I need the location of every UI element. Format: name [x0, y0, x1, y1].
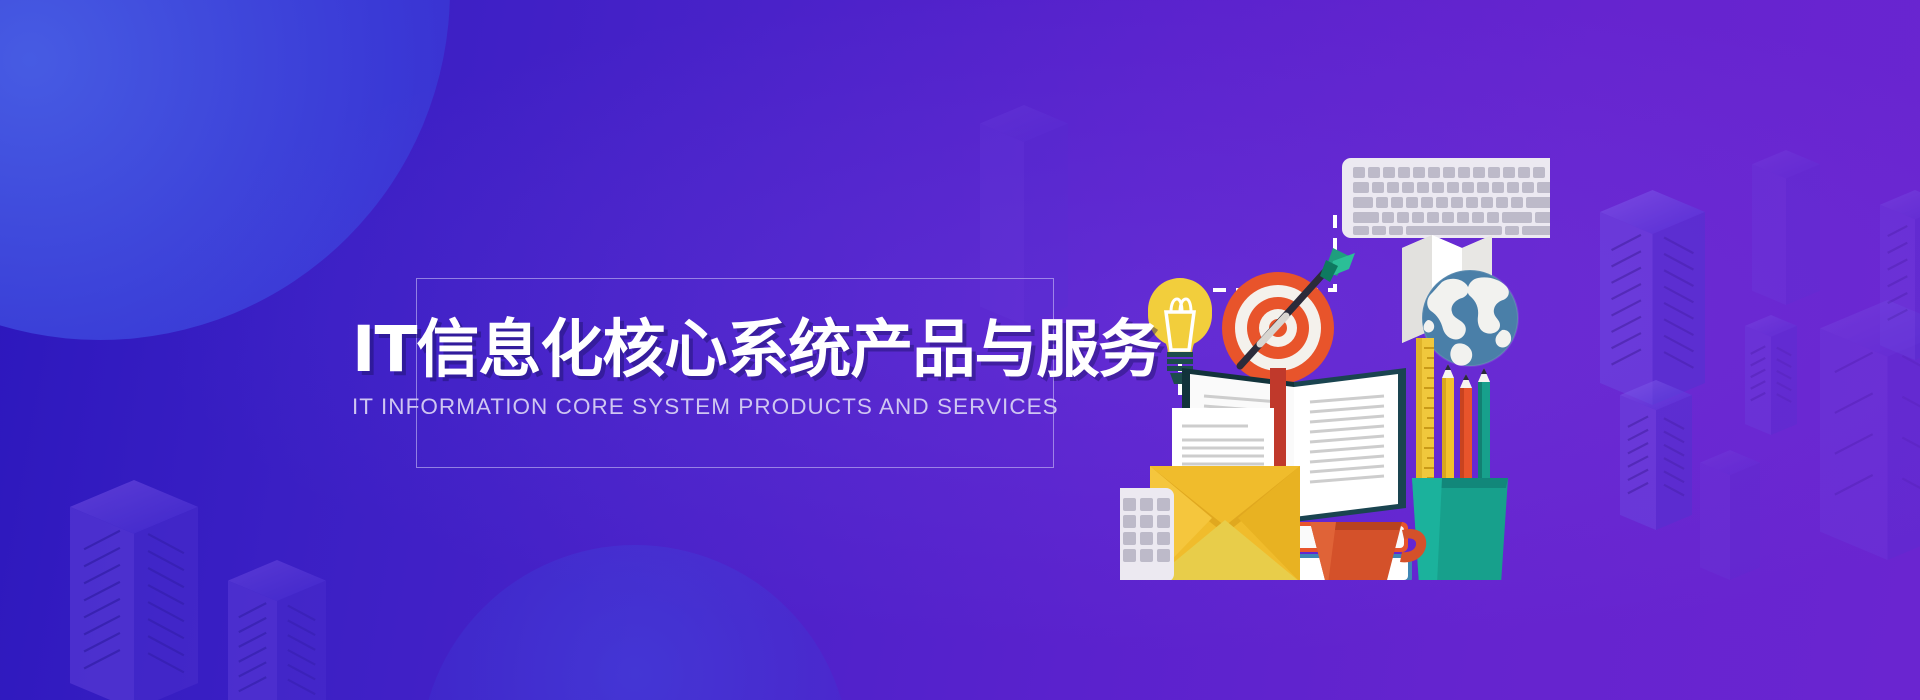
- building-right-small-pink: [1620, 380, 1692, 530]
- building-right-thin: [1745, 315, 1797, 435]
- building-far-right-edge: [1880, 190, 1920, 360]
- ruler-icon: [1416, 338, 1434, 488]
- target-with-arrow-icon: [1222, 248, 1355, 384]
- pencils-icon: [1442, 364, 1490, 490]
- hero-banner: IT信息化核心系统产品与服务 IT INFORMATION CORE SYSTE…: [0, 0, 1920, 700]
- building-right-low: [1700, 450, 1760, 580]
- headline-block: IT信息化核心系统产品与服务 IT INFORMATION CORE SYSTE…: [352, 318, 1132, 420]
- pencil-cup-icon: [1412, 478, 1508, 580]
- building-bottom-left-small: [228, 560, 326, 700]
- building-bottom-left-tall: [70, 480, 198, 700]
- building-right-midfaint: [1752, 150, 1820, 305]
- keyboard-bottom-left-icon: [1120, 488, 1174, 580]
- building-right-tall: [1600, 190, 1705, 405]
- keyboard-top-icon: [1342, 158, 1550, 238]
- globe-icon: [1422, 270, 1518, 366]
- page-title: IT信息化核心系统产品与服务: [352, 318, 1132, 382]
- page-subtitle: IT INFORMATION CORE SYSTEM PRODUCTS AND …: [352, 394, 1132, 420]
- it-services-illustration: [1120, 130, 1550, 580]
